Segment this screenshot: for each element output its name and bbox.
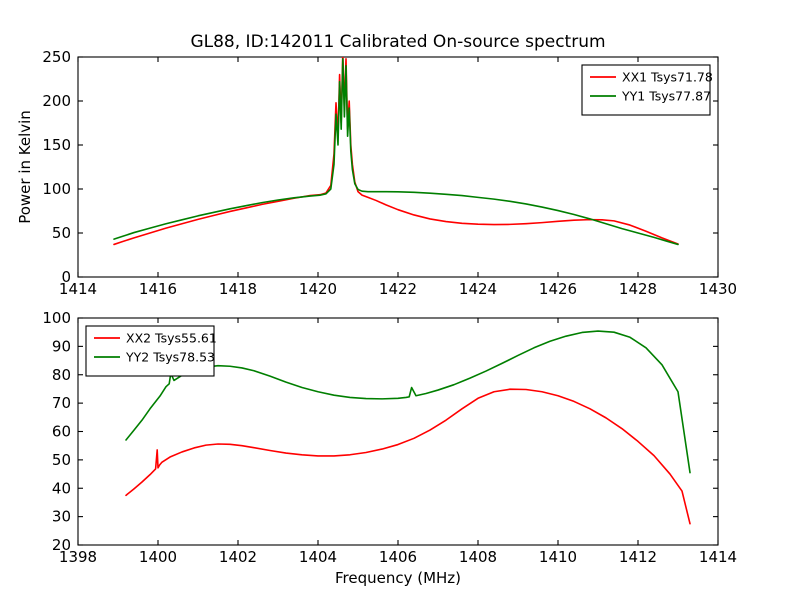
- ytick-label-top: 50: [52, 224, 71, 242]
- xtick-label-bottom: 1410: [539, 548, 577, 566]
- xtick-label-top: 1416: [139, 280, 177, 298]
- ytick-label-bottom: 30: [52, 508, 71, 526]
- legend-label-bottom-1: YY2 Tsys78.53: [125, 350, 215, 365]
- xtick-label-bottom: 1408: [459, 548, 497, 566]
- legend-label-top-1: YY1 Tsys77.87: [621, 89, 711, 104]
- xtick-label-top: 1418: [219, 280, 257, 298]
- ytick-label-top: 0: [61, 268, 71, 286]
- xtick-label-top: 1430: [699, 280, 737, 298]
- xtick-label-bottom: 1406: [379, 548, 417, 566]
- xtick-label-bottom: 1412: [619, 548, 657, 566]
- ytick-label-top: 100: [42, 180, 71, 198]
- ytick-label-top: 250: [42, 48, 71, 66]
- ytick-label-bottom: 40: [52, 479, 71, 497]
- panel-bottom: 1398140014021404140614081410141214142030…: [42, 309, 737, 587]
- panel-top: 1414141614181420142214241426142814300501…: [16, 32, 737, 298]
- xtick-label-bottom: 1402: [219, 548, 257, 566]
- xtick-label-top: 1426: [539, 280, 577, 298]
- xtick-label-bottom: 1400: [139, 548, 177, 566]
- ytick-label-bottom: 80: [52, 366, 71, 384]
- legend-label-bottom-0: XX2 Tsys55.61: [126, 331, 217, 346]
- ytick-label-top: 200: [42, 92, 71, 110]
- ytick-label-bottom: 50: [52, 451, 71, 469]
- ytick-label-top: 150: [42, 136, 71, 154]
- legend-label-top-0: XX1 Tsys71.78: [622, 70, 713, 85]
- legend-bottom: XX2 Tsys55.61YY2 Tsys78.53: [86, 326, 217, 376]
- x-axis-label-bottom: Frequency (MHz): [335, 569, 461, 587]
- xtick-label-top: 1428: [619, 280, 657, 298]
- xtick-label-top: 1422: [379, 280, 417, 298]
- ytick-label-bottom: 90: [52, 337, 71, 355]
- figure-canvas: 1414141614181420142214241426142814300501…: [0, 0, 800, 600]
- xtick-label-bottom: 1404: [299, 548, 337, 566]
- ytick-label-bottom: 60: [52, 423, 71, 441]
- legend-top: XX1 Tsys71.78YY1 Tsys77.87: [582, 65, 713, 115]
- spectrum-plot: 1414141614181420142214241426142814300501…: [0, 0, 800, 600]
- ytick-label-bottom: 70: [52, 394, 71, 412]
- xtick-label-top: 1420: [299, 280, 337, 298]
- plot-title: GL88, ID:142011 Calibrated On-source spe…: [190, 32, 605, 52]
- ytick-label-bottom: 100: [42, 309, 71, 327]
- y-axis-label-top: Power in Kelvin: [16, 110, 34, 224]
- xtick-label-top: 1424: [459, 280, 497, 298]
- ytick-label-bottom: 20: [52, 536, 71, 554]
- xtick-label-bottom: 1414: [699, 548, 737, 566]
